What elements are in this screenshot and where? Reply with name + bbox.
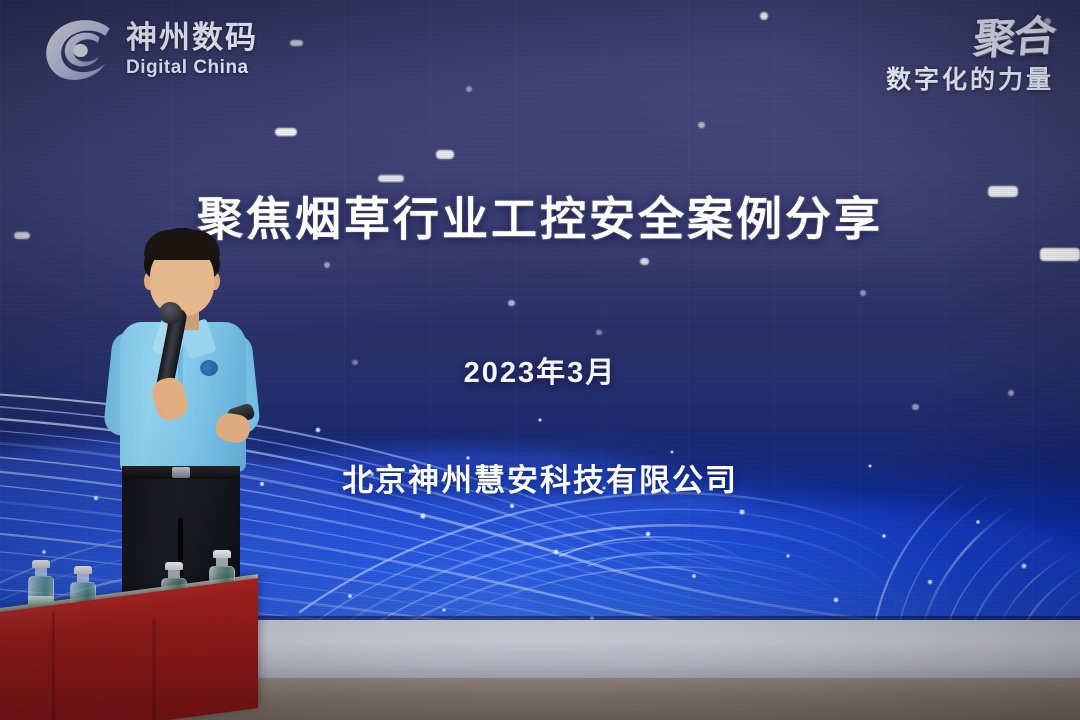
speaker-hair-front [144,230,220,260]
bottle-neck [216,558,228,566]
event-calligraphy: 聚合 [972,16,1056,60]
brand-name-cn: 神州数码 [126,22,258,53]
bottle-cap [213,550,231,558]
speaker-shirt-logo [200,360,218,376]
digital-china-logo: 神州数码 Digital China [42,14,258,84]
bottle-cap [74,566,92,574]
bottle-neck [168,570,180,578]
table-cloth-fold [152,620,156,720]
event-logo: 聚合 数字化的力量 [886,18,1054,96]
stage-photo: 神州数码 Digital China 聚合 数字化的力量 聚焦烟草行业工控安全案… [0,0,1080,720]
bottle-cap [32,560,50,568]
bottle-neck [77,574,89,582]
digital-china-swirl-icon [42,14,116,84]
table-cloth-fold [52,612,55,720]
event-tagline: 数字化的力量 [886,60,1054,96]
speaker-belt-buckle [172,467,190,478]
bottle-neck [35,568,47,576]
brand-name-en: Digital China [126,58,258,77]
bottle-cap [165,562,183,570]
